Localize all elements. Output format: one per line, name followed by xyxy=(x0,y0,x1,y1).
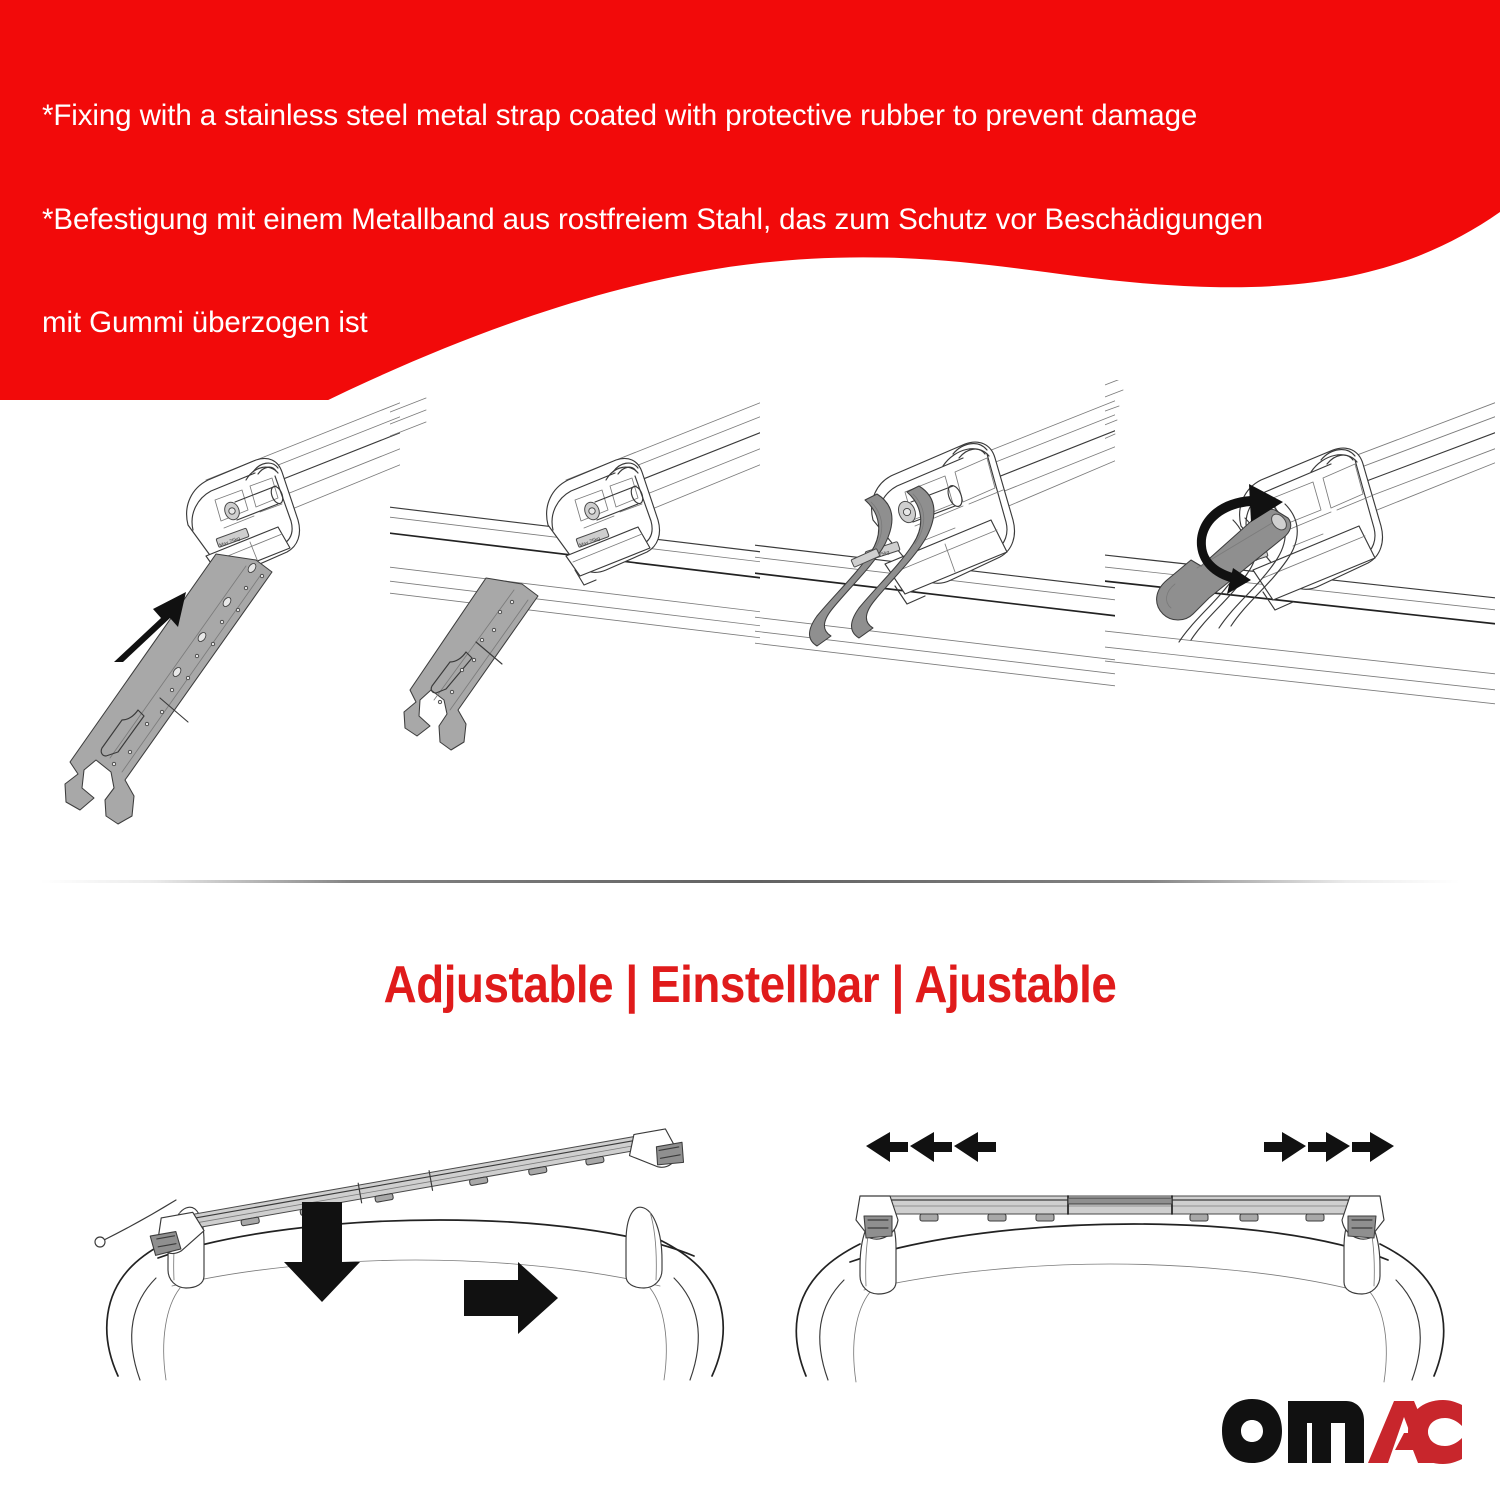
illustration-lower-crossbar xyxy=(40,1080,760,1390)
triple-arrow-left-icon xyxy=(866,1132,996,1162)
down-arrow-icon xyxy=(284,1202,360,1302)
banner-line-de-1: *Befestigung mit einem Metallband aus ro… xyxy=(42,203,1462,238)
step-4-tighten-allen-key: Max 75kg xyxy=(1105,380,1495,870)
header-banner: *Fixing with a stainless steel metal str… xyxy=(0,0,1500,400)
section-divider xyxy=(40,880,1460,883)
step-2-strap-under-rail: Max 75kg xyxy=(390,380,760,870)
banner-line-en: *Fixing with a stainless steel metal str… xyxy=(42,99,1462,134)
adjustable-heading: Adjustable | Einstellbar | Ajustable xyxy=(90,955,1410,1015)
crossbar-assembly xyxy=(856,1196,1384,1239)
logo-letter-m xyxy=(1288,1401,1364,1463)
installation-steps-strip: Max 75kg xyxy=(0,380,1500,870)
banner-line-de-2: mit Gummi überzogen ist xyxy=(42,306,1462,341)
step-1-insert-strap: Max 75kg xyxy=(10,380,400,870)
rack-foot-shell: Max 75kg xyxy=(547,459,660,586)
right-arrow-icon xyxy=(464,1262,558,1334)
triple-arrow-right-icon xyxy=(1264,1132,1394,1162)
strap-band-front xyxy=(810,494,892,646)
omac-logo-mark xyxy=(1218,1393,1462,1467)
illustration-crossbar-adjust xyxy=(770,1120,1490,1390)
crossbar-assembly xyxy=(147,1127,685,1257)
logo-letter-o xyxy=(1222,1399,1282,1463)
omac-logo xyxy=(1218,1393,1462,1467)
step-3-strap-wrapped: Max 75kg xyxy=(755,380,1115,870)
stainless-steel-strap xyxy=(65,554,272,824)
factory-roof-rail-right xyxy=(626,1207,662,1288)
stainless-steel-strap xyxy=(404,578,538,750)
